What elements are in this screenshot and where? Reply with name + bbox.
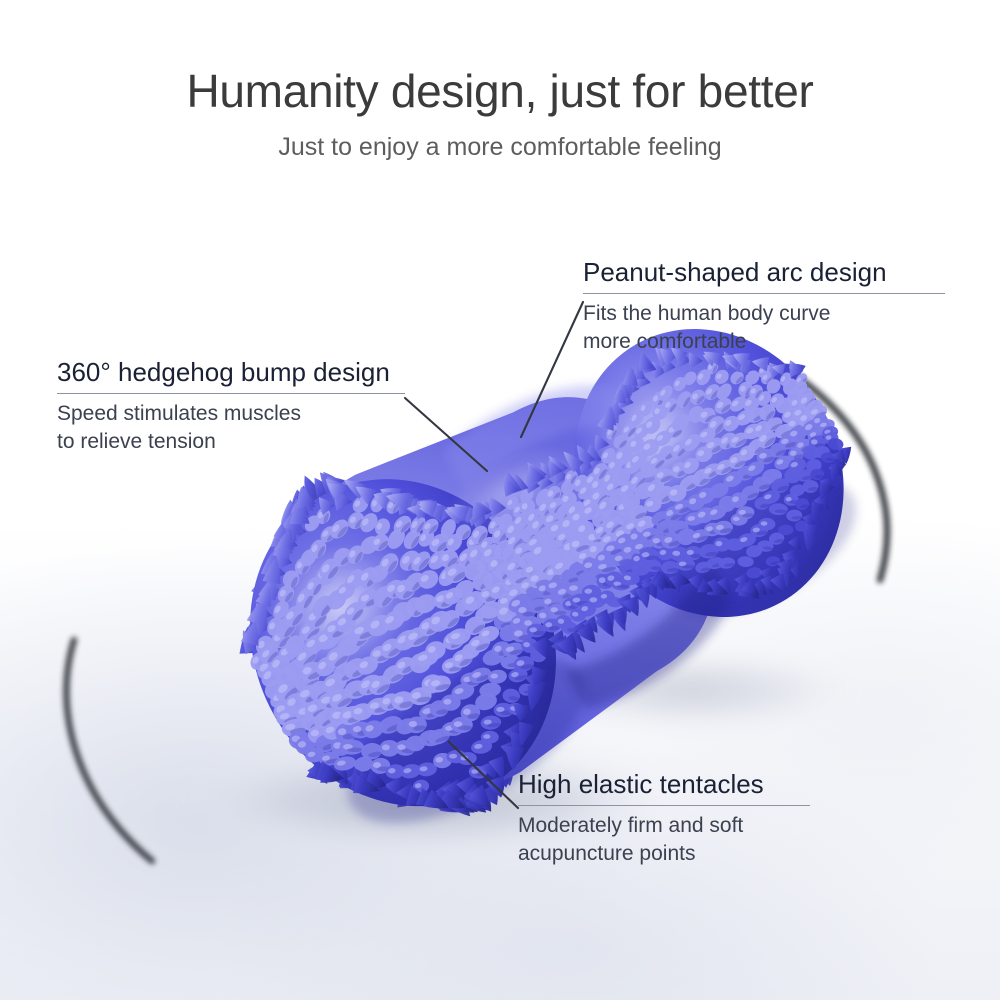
callout-peanut-body-line-1: Fits the human body curve [583,300,945,328]
callout-tentacles-body-line-1: Moderately firm and soft [518,812,810,840]
motion-arc-left [66,640,152,861]
callout-peanut-underline [583,293,945,294]
contact-shadow-far [510,648,870,732]
page-subtitle: Just to enjoy a more comfortable feeling [0,117,1000,162]
callout-tentacles-body-line-2: acupuncture points [518,840,810,868]
callout-hedgehog-underline [57,393,405,394]
callout-tentacles-heading: High elastic tentacles [518,770,810,805]
callout-hedgehog-body-line-1: Speed stimulates muscles [57,400,405,428]
header-block: Humanity design, just for better Just to… [0,0,1000,161]
callout-hedgehog-heading: 360° hedgehog bump design [57,358,405,393]
infographic-canvas: Humanity design, just for better Just to… [0,0,1000,1000]
leader-tentacles [449,742,518,808]
callout-hedgehog-body-line-2: to relieve tension [57,428,405,456]
motion-arc-right [795,375,887,580]
callout-hedgehog: 360° hedgehog bump design Speed stimulat… [57,358,405,455]
callout-tentacles: High elastic tentacles Moderately firm a… [518,770,810,867]
callout-peanut: Peanut-shaped arc design Fits the human … [583,258,945,355]
callout-tentacles-underline [518,805,810,806]
callout-peanut-heading: Peanut-shaped arc design [583,258,945,293]
callout-peanut-body-line-2: more comfortable [583,328,945,356]
leader-hedgehog [405,398,487,471]
leader-peanut [521,302,583,437]
page-title: Humanity design, just for better [0,0,1000,117]
